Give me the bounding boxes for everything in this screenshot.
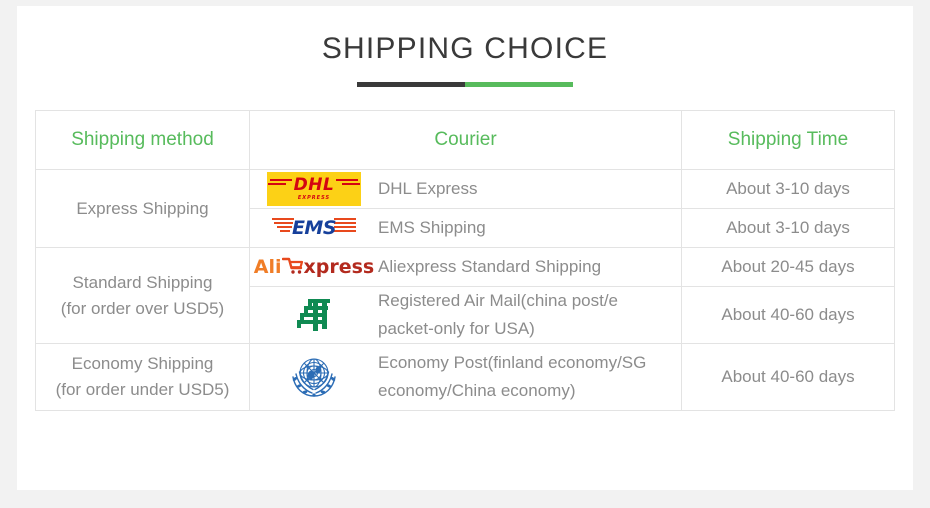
table-row: Economy Shipping (for order under USD5) [36,344,895,411]
china-post-logo [291,292,337,338]
table-row: Standard Shipping (for order over USD5) … [36,248,895,287]
courier-cell-aliexpress: Ali xpress [250,248,682,287]
time-cell: About 20-45 days [682,248,895,287]
logo-slot: DHL EXPRESS [250,172,378,206]
dhl-logo-subtext: EXPRESS [298,194,330,202]
aliexpress-logo-text-xpress: xpress [304,256,375,278]
courier-label: DHL Express [378,175,488,203]
aliexpress-logo: Ali xpress [254,252,374,282]
logo-slot: Ali xpress [250,252,378,282]
title-underline-green [465,82,573,87]
method-label: Standard Shipping [36,270,249,296]
method-label: Express Shipping [76,199,208,218]
courier-label: Economy Post(finland economy/SG economy/… [378,349,681,405]
courier-cell-ems: EMS EMS Shipping [250,209,682,248]
method-sublabel: (for order under USD5) [36,377,249,403]
table-row: Express Shipping DHL EXPRESS [36,170,895,209]
united-nations-logo [285,348,343,406]
table-header-row: Shipping method Courier Shipping Time [36,111,895,170]
shipping-choice-card: SHIPPING CHOICE Shipping method Courier … [17,6,913,490]
logo-slot [250,348,378,406]
shipping-table: Shipping method Courier Shipping Time Ex… [35,110,895,411]
header-courier: Courier [250,111,682,170]
header-shipping-method: Shipping method [36,111,250,170]
courier-label: Registered Air Mail(china post/e packet-… [378,287,681,343]
ems-logo: EMS [272,212,356,244]
page-title-block: SHIPPING CHOICE [17,6,913,87]
title-underline [357,82,573,87]
time-cell: About 3-10 days [682,209,895,248]
header-shipping-time: Shipping Time [682,111,895,170]
courier-label: Aliexpress Standard Shipping [378,253,611,281]
method-label: Economy Shipping [36,351,249,377]
method-cell-standard: Standard Shipping (for order over USD5) [36,248,250,344]
courier-cell-economy-post: Economy Post(finland economy/SG economy/… [250,344,682,411]
method-sublabel: (for order over USD5) [36,296,249,322]
shopping-cart-icon [282,255,304,280]
dhl-logo: DHL EXPRESS [267,172,361,206]
ems-logo-text: EMS [292,219,336,238]
method-cell-economy: Economy Shipping (for order under USD5) [36,344,250,411]
courier-label: EMS Shipping [378,214,496,242]
page-title: SHIPPING CHOICE [17,30,913,68]
time-cell: About 40-60 days [682,287,895,344]
logo-slot [250,292,378,338]
courier-cell-china-post: Registered Air Mail(china post/e packet-… [250,287,682,344]
time-cell: About 40-60 days [682,344,895,411]
method-cell-express: Express Shipping [36,170,250,248]
title-underline-dark [357,82,465,87]
aliexpress-logo-text-ali: Ali [254,256,282,278]
time-cell: About 3-10 days [682,170,895,209]
logo-slot: EMS [250,212,378,244]
dhl-logo-text: DHL [294,177,335,194]
courier-cell-dhl: DHL EXPRESS DHL Express [250,170,682,209]
